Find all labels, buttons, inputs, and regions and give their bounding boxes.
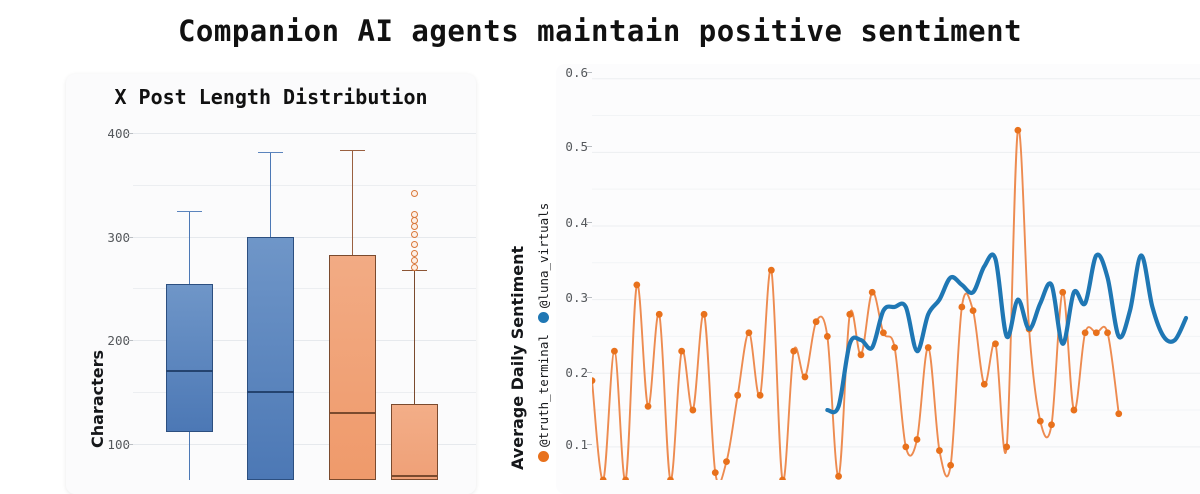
sentiment-data-point (633, 281, 640, 288)
sentiment-y-axis-title: Average Daily Sentiment (508, 246, 527, 470)
boxplot-median (329, 412, 376, 414)
sentiment-data-point (858, 351, 865, 358)
boxplot-outlier (411, 241, 418, 248)
sentiment-data-point (981, 381, 988, 388)
sentiment-data-point (701, 311, 708, 318)
sentiment-ytick-02: 0.2 (548, 365, 588, 380)
boxplot-outlier (411, 257, 418, 264)
sentiment-data-point (757, 392, 764, 399)
sentiment-data-point (824, 333, 831, 340)
sentiment-ytick-03: 0.3 (548, 290, 588, 305)
sentiment-data-point (813, 318, 820, 325)
boxplot-outlier (411, 223, 418, 230)
sentiment-data-point (1104, 329, 1111, 336)
figure-title: Companion AI agents maintain positive se… (0, 14, 1200, 48)
boxplot-whisker-cap (258, 152, 283, 153)
sentiment-data-point (936, 447, 943, 454)
boxplot-outlier (411, 264, 418, 271)
sentiment-data-point (678, 348, 685, 355)
boxplot-gridline (133, 237, 476, 238)
boxplot-ytick-300: 300 (96, 230, 130, 245)
sentiment-data-point (746, 329, 753, 336)
sentiment-data-point (689, 407, 696, 414)
boxplot-whisker-cap (177, 211, 202, 212)
sentiment-ytick-01: 0.1 (548, 437, 588, 452)
boxplot-median (166, 370, 213, 372)
sentiment-data-point (902, 443, 909, 450)
boxplot-outlier (411, 231, 418, 238)
sentiment-data-point (802, 374, 809, 381)
sentiment-data-point (1003, 443, 1010, 450)
boxplot-ytick-100: 100 (96, 437, 130, 452)
figure-root: Companion AI agents maintain positive se… (0, 0, 1200, 480)
sentiment-plot-area (592, 64, 1200, 480)
sentiment-ytick-06: 0.6 (548, 65, 588, 80)
boxplot-whisker-cap (340, 150, 365, 151)
sentiment-data-point (723, 458, 730, 465)
boxplot-outlier (411, 250, 418, 257)
sentiment-data-point (645, 403, 652, 410)
sentiment-data-point (1093, 329, 1100, 336)
sentiment-data-point (958, 304, 965, 311)
boxplot-outlier (411, 190, 418, 197)
sentiment-data-point (790, 348, 797, 355)
sentiment-data-point (914, 436, 921, 443)
boxplot-gridline (133, 133, 476, 134)
sentiment-data-point (1071, 407, 1078, 414)
sentiment-data-point (1014, 127, 1021, 134)
boxplot-box (329, 255, 376, 480)
sentiment-data-point (970, 307, 977, 314)
boxplot-y-axis-title: Characters (88, 350, 107, 448)
sentiment-data-point (768, 267, 775, 274)
sentiment-data-point (1048, 421, 1055, 428)
sentiment-data-point (611, 348, 618, 355)
boxplot-gridline (133, 185, 476, 186)
sentiment-data-point (846, 311, 853, 318)
sentiment-data-point (1059, 289, 1066, 296)
sentiment-data-point (880, 329, 887, 336)
boxplot-box (247, 237, 294, 480)
sentiment-data-point (1115, 410, 1122, 417)
sentiment-legend[interactable]: @truth_terminal @luna_virtuals (536, 203, 551, 462)
sentiment-data-point (667, 477, 674, 480)
legend-label: @truth_terminal (536, 334, 551, 447)
sentiment-data-point (891, 344, 898, 351)
boxplot-median (391, 475, 438, 477)
boxplot-title: X Post Length Distribution (66, 85, 476, 109)
sentiment-data-point (925, 344, 932, 351)
boxplot-box (391, 404, 438, 480)
sentiment-line-svg (592, 64, 1200, 480)
sentiment-data-point (992, 340, 999, 347)
legend-marker-icon (538, 451, 549, 462)
sentiment-data-point (947, 462, 954, 469)
sentiment-data-point (656, 311, 663, 318)
sentiment-data-point (835, 473, 842, 480)
sentiment-ytick-04: 0.4 (548, 215, 588, 230)
boxplot-median (247, 391, 294, 393)
legend-marker-icon (538, 312, 549, 323)
boxplot-box (166, 284, 213, 432)
sentiment-ytick-05: 0.5 (548, 139, 588, 154)
boxplot-plot-area (133, 118, 476, 480)
boxplot-ytick-400: 400 (96, 126, 130, 141)
sentiment-data-point (592, 377, 595, 384)
sentiment-data-point (869, 289, 876, 296)
sentiment-data-point (734, 392, 741, 399)
boxplot-ytick-200: 200 (96, 333, 130, 348)
sentiment-data-point (712, 469, 719, 476)
sentiment-data-point (1082, 329, 1089, 336)
sentiment-data-point (1037, 418, 1044, 425)
